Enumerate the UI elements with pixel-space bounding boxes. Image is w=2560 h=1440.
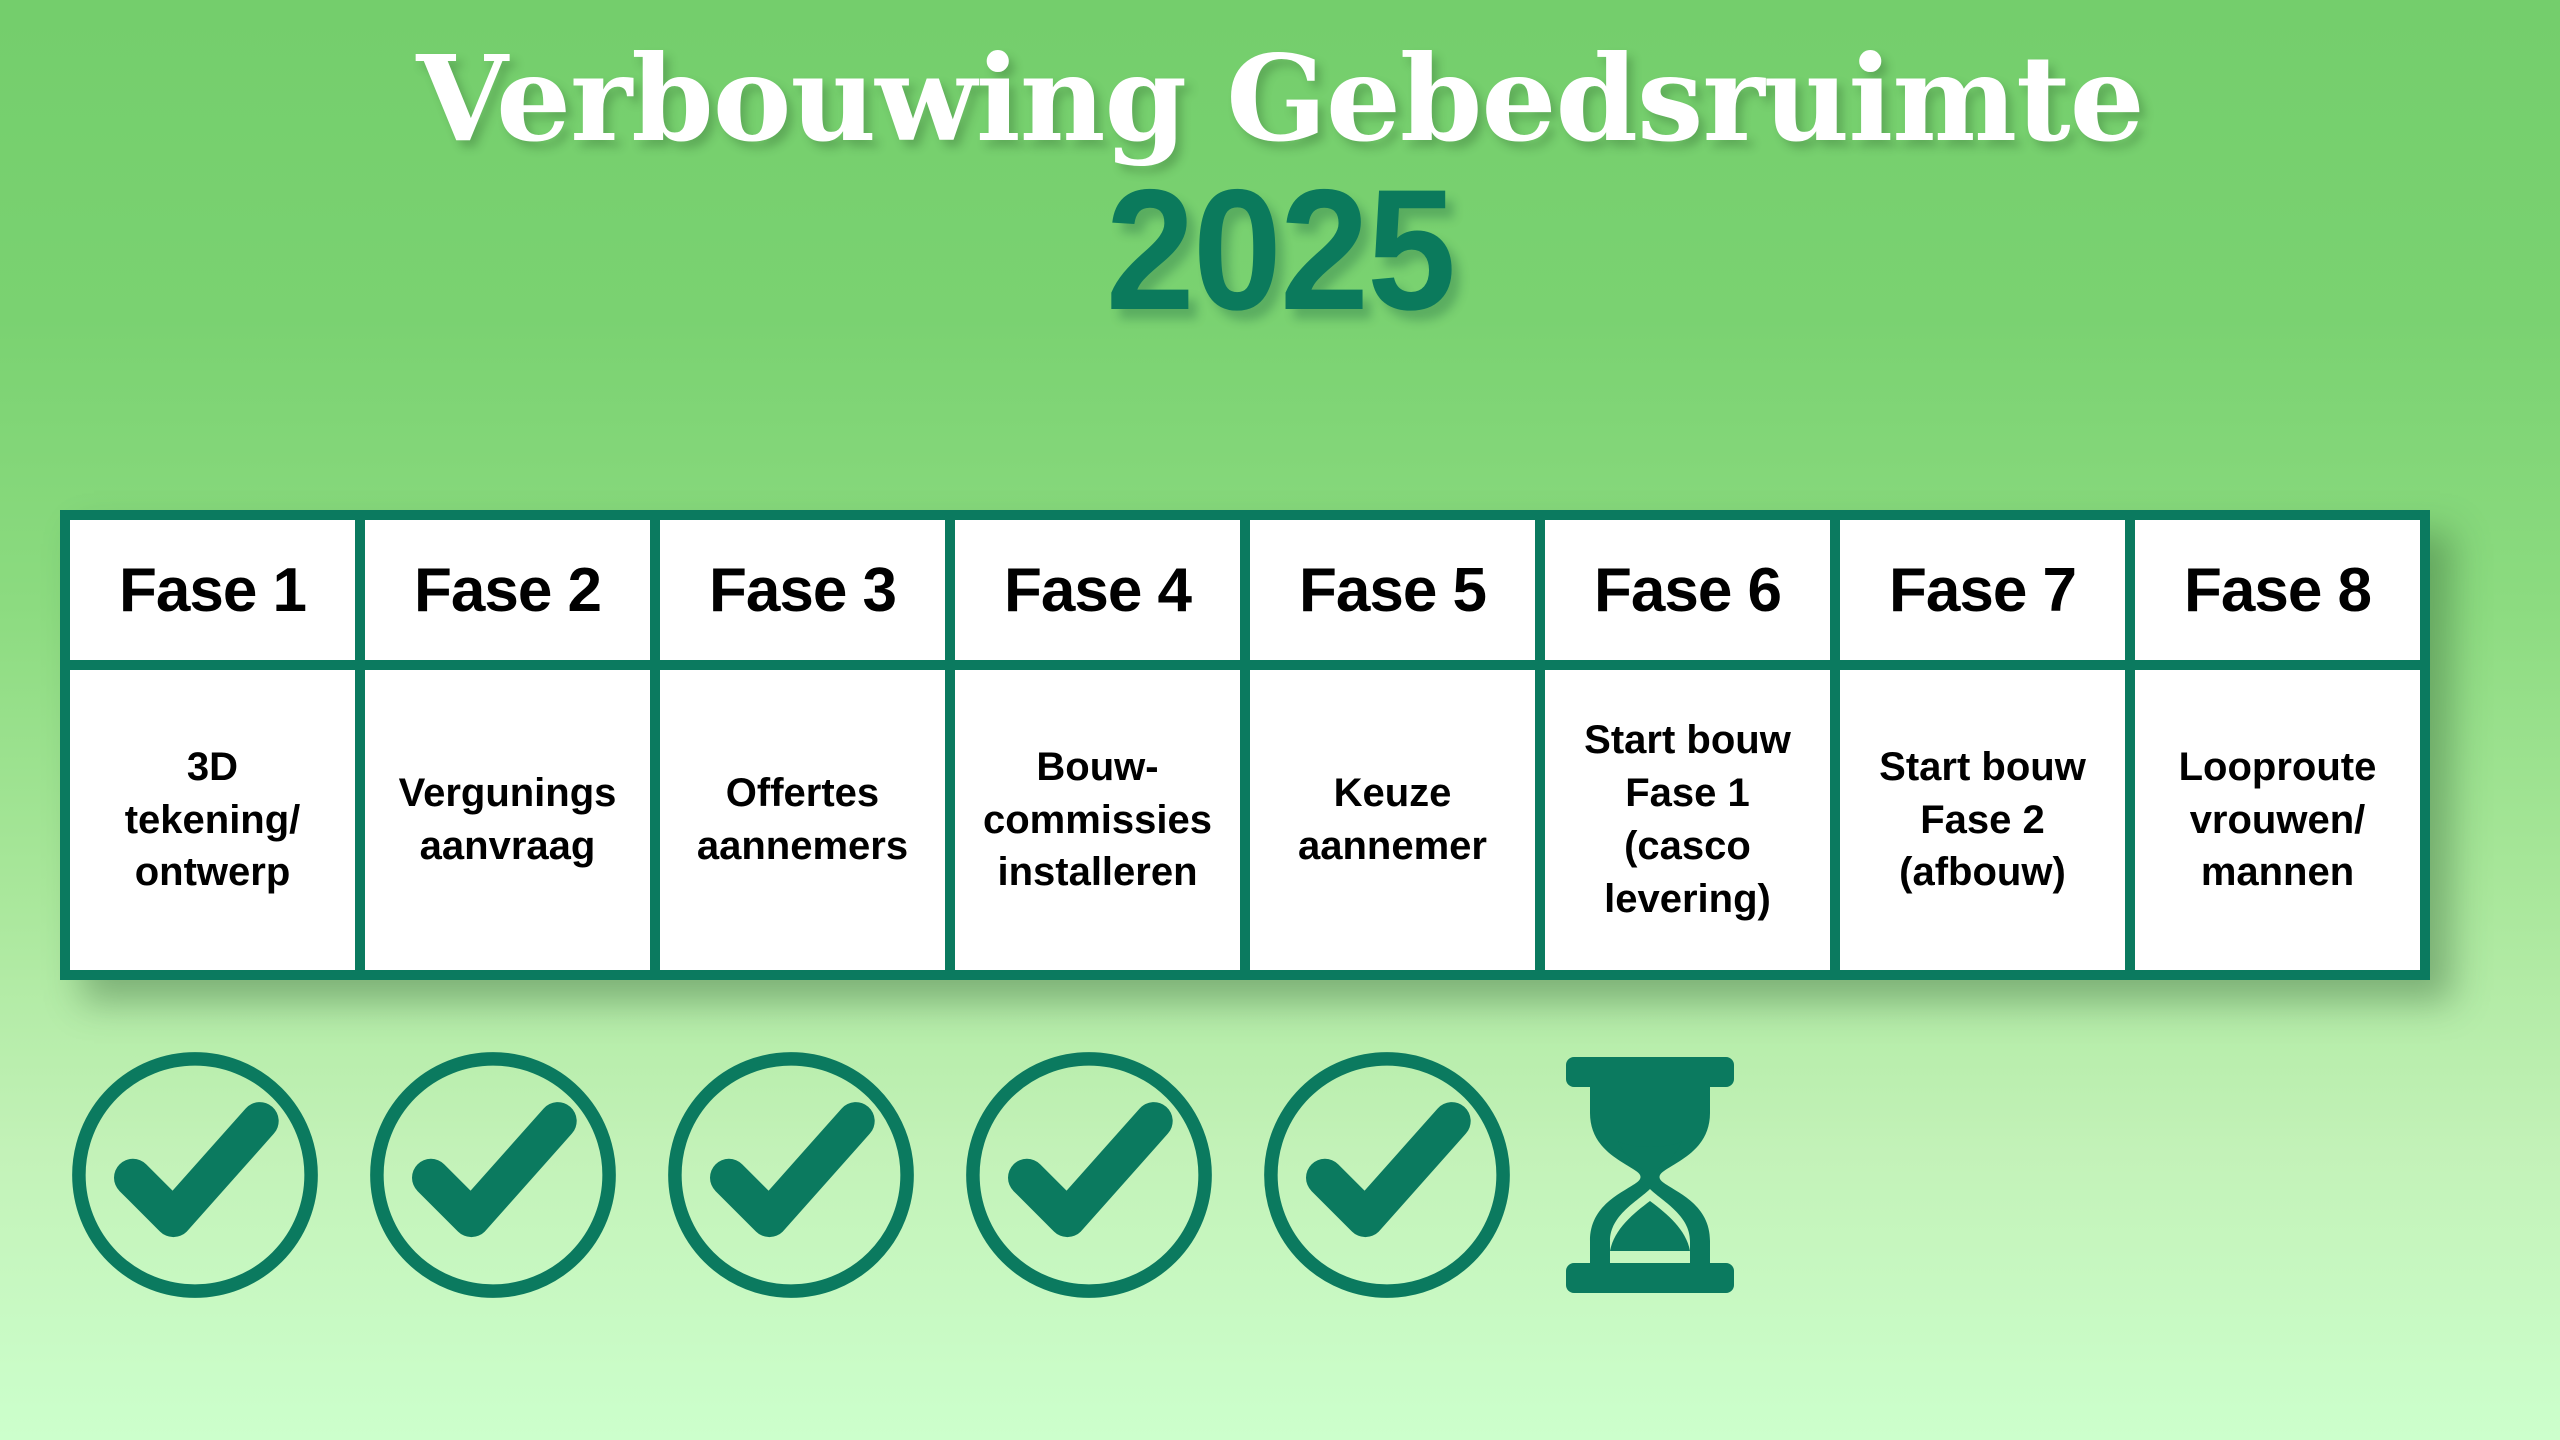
phase-body-cell: Bouw- commissies installeren <box>955 670 1240 970</box>
year-title: 2025 <box>90 164 2471 336</box>
phase-table: Fase 1 Fase 2 Fase 3 Fase 4 Fase 5 Fase … <box>60 510 2430 980</box>
check-circle-icon <box>60 1040 330 1310</box>
phase-header-cell: Fase 4 <box>955 520 1240 660</box>
check-circle-icon <box>1252 1040 1522 1310</box>
phase-header-cell: Fase 2 <box>365 520 650 660</box>
phase-header-cell: Fase 8 <box>2135 520 2420 660</box>
title-area: Verbouwing Gebedsruimte 2025 <box>0 0 2560 420</box>
phase-body-cell: Start bouw Fase 2 (afbouw) <box>1840 670 2125 970</box>
page-title: Verbouwing Gebedsruimte <box>0 0 2560 158</box>
phase-body-cell: Looproute vrouwen/ mannen <box>2135 670 2420 970</box>
phase-header-cell: Fase 5 <box>1250 520 1535 660</box>
phase-body-cell: 3D tekening/ ontwerp <box>70 670 355 970</box>
check-circle-icon <box>358 1040 628 1310</box>
check-circle-icon <box>954 1040 1224 1310</box>
phase-body-cell: Keuze aannemer <box>1250 670 1535 970</box>
hourglass-icon <box>1550 1040 1750 1310</box>
status-icon-row <box>60 1025 1840 1325</box>
phase-header-cell: Fase 3 <box>660 520 945 660</box>
phase-body-cell: Vergunings aanvraag <box>365 670 650 970</box>
phase-header-cell: Fase 6 <box>1545 520 1830 660</box>
check-circle-icon <box>656 1040 926 1310</box>
phase-table-header-row: Fase 1 Fase 2 Fase 3 Fase 4 Fase 5 Fase … <box>70 520 2420 660</box>
phase-table-body-row: 3D tekening/ ontwerp Vergunings aanvraag… <box>70 670 2420 970</box>
phase-body-cell: Start bouw Fase 1 (casco levering) <box>1545 670 1830 970</box>
phase-header-cell: Fase 7 <box>1840 520 2125 660</box>
phase-body-cell: Offertes aannemers <box>660 670 945 970</box>
phase-header-cell: Fase 1 <box>70 520 355 660</box>
